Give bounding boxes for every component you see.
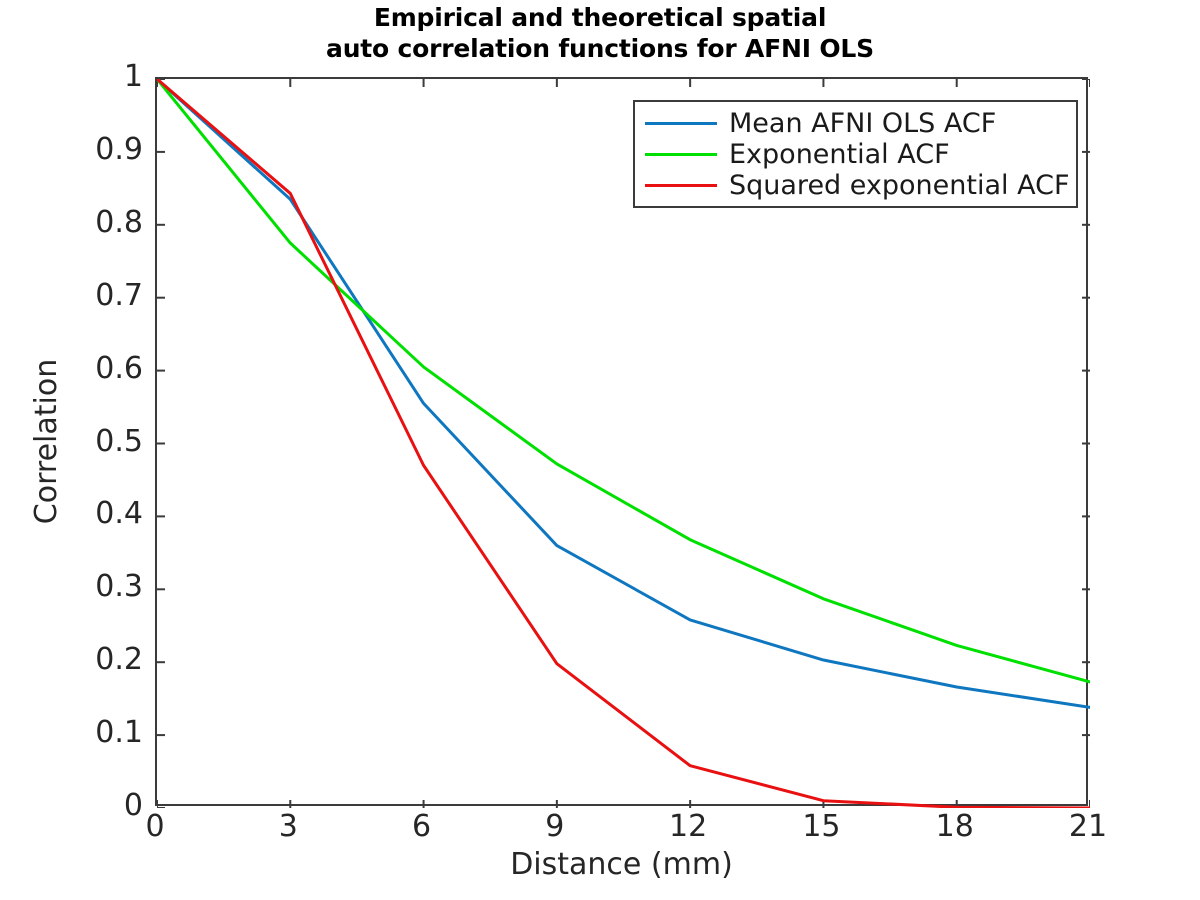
legend-swatch-line-icon bbox=[645, 184, 717, 187]
legend-item: Exponential ACF bbox=[645, 139, 1066, 170]
x-axis-tick-label: 21 bbox=[1038, 812, 1138, 842]
legend-item-label: Mean AFNI OLS ACF bbox=[729, 110, 996, 137]
y-axis-tick-label: 0.9 bbox=[23, 135, 143, 165]
y-axis-tick-label: 0.1 bbox=[23, 718, 143, 748]
y-axis-tick-label: 1 bbox=[23, 62, 143, 92]
chart-figure: Empirical and theoretical spatial auto c… bbox=[0, 0, 1200, 900]
x-axis-tick-label: 18 bbox=[905, 812, 1005, 842]
x-axis-tick-label: 15 bbox=[771, 812, 871, 842]
legend: Mean AFNI OLS ACF Exponential ACF Square… bbox=[633, 100, 1078, 208]
y-axis-tick-labels: 00.10.20.30.40.50.60.70.80.91 bbox=[15, 77, 143, 806]
x-axis-tick-label: 6 bbox=[372, 812, 472, 842]
chart-title-line-2: auto correlation functions for AFNI OLS bbox=[0, 33, 1200, 64]
y-axis-tick-label: 0.7 bbox=[23, 281, 143, 311]
y-axis-tick-label: 0.5 bbox=[23, 427, 143, 457]
legend-item-label: Exponential ACF bbox=[729, 141, 950, 168]
legend-item: Mean AFNI OLS ACF bbox=[645, 108, 1066, 139]
legend-swatch-line-icon bbox=[645, 153, 717, 156]
legend-item-label: Squared exponential ACF bbox=[729, 172, 1069, 199]
x-axis-tick-label: 9 bbox=[505, 812, 605, 842]
y-axis-tick-label: 0.8 bbox=[23, 208, 143, 238]
y-axis-tick-label: 0.4 bbox=[23, 499, 143, 529]
y-axis-tick-label: 0.2 bbox=[23, 645, 143, 675]
x-axis-tick-label: 3 bbox=[238, 812, 338, 842]
legend-item: Squared exponential ACF bbox=[645, 170, 1066, 201]
y-axis-tick-label: 0.3 bbox=[23, 572, 143, 602]
x-axis-label: Distance (mm) bbox=[155, 847, 1088, 882]
x-axis-tick-labels: 036912151821 bbox=[155, 812, 1088, 852]
x-axis-tick-label: 0 bbox=[105, 812, 205, 842]
chart-title-line-1: Empirical and theoretical spatial bbox=[0, 2, 1200, 33]
y-axis-tick-label: 0.6 bbox=[23, 354, 143, 384]
chart-title: Empirical and theoretical spatial auto c… bbox=[0, 2, 1200, 64]
legend-swatch-line-icon bbox=[645, 122, 717, 125]
x-axis-tick-label: 12 bbox=[638, 812, 738, 842]
